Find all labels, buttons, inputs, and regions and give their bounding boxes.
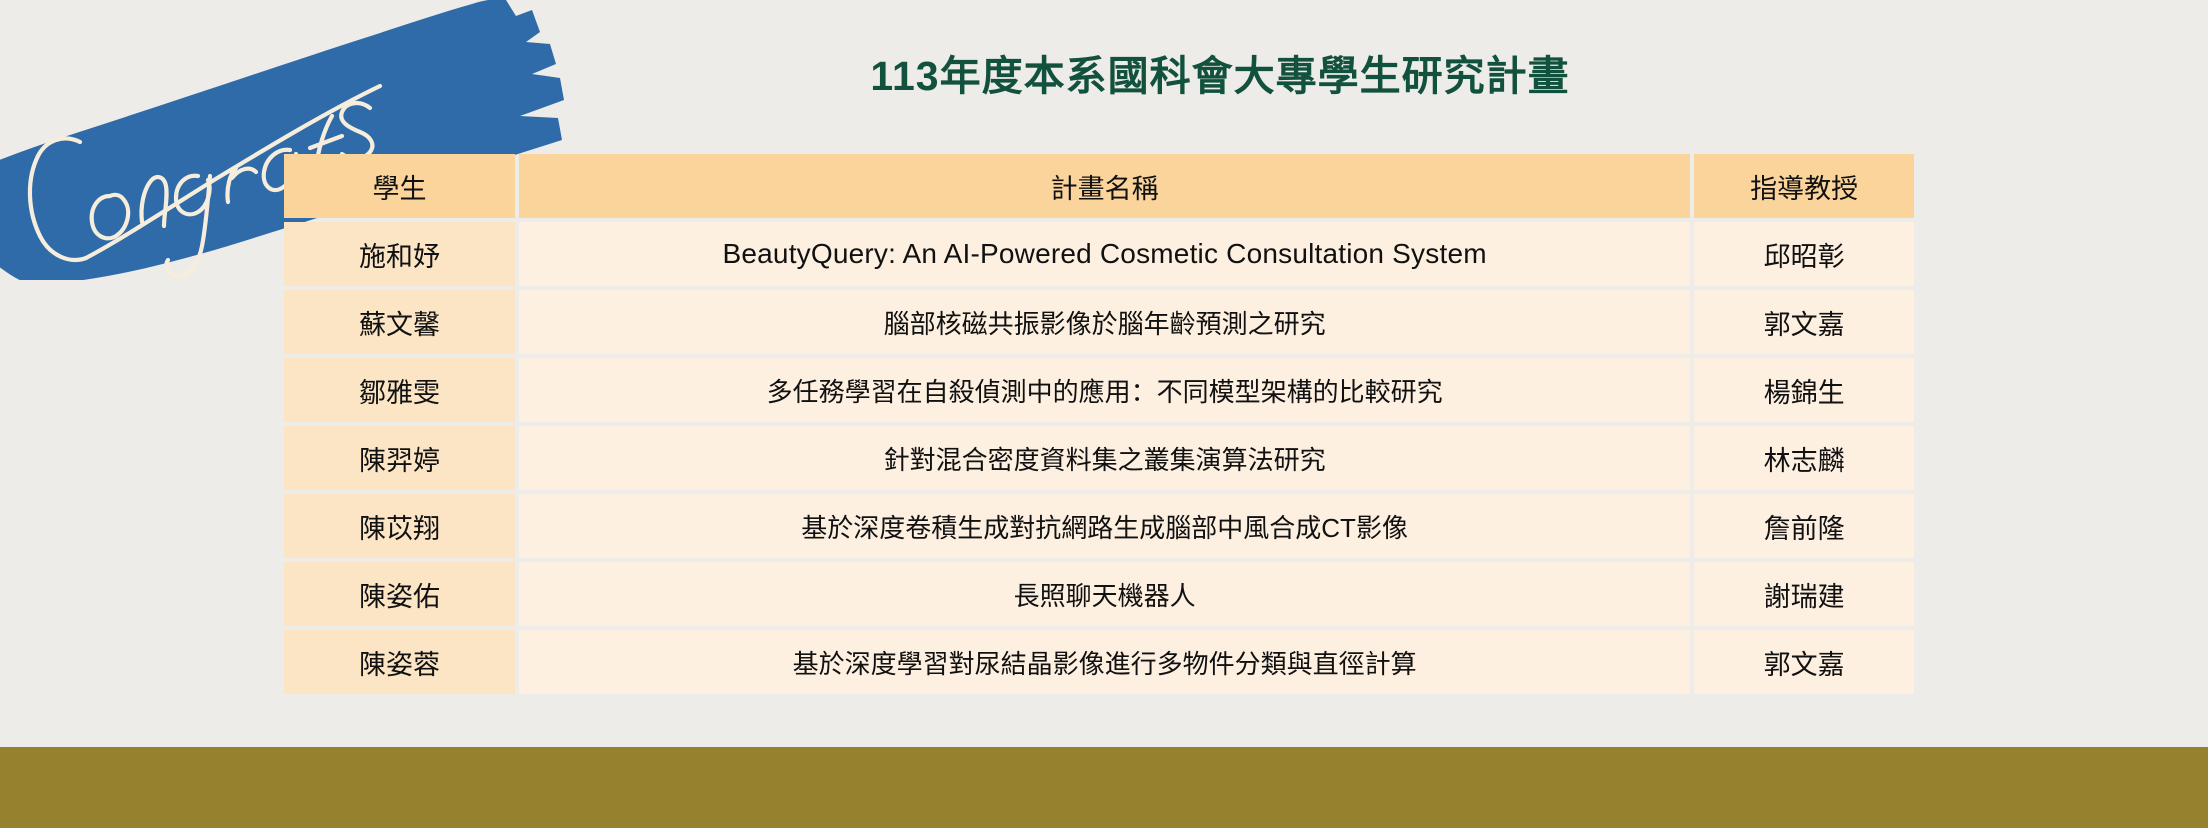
cell-advisor: 郭文嘉 (1694, 290, 1914, 354)
table-row: 施和妤 BeautyQuery: An AI-Powered Cosmetic … (284, 222, 1914, 286)
table-row: 陳姿佑 長照聊天機器人 謝瑞建 (284, 562, 1914, 626)
column-header-advisor: 指導教授 (1694, 154, 1914, 218)
cell-student: 陳苡翔 (284, 494, 515, 558)
cell-project: BeautyQuery: An AI-Powered Cosmetic Cons… (519, 222, 1690, 286)
cell-advisor: 邱昭彰 (1694, 222, 1914, 286)
column-header-student: 學生 (284, 154, 515, 218)
cell-project: 針對混合密度資料集之叢集演算法研究 (519, 426, 1690, 490)
table-header: 學生 計畫名稱 指導教授 (284, 154, 1914, 218)
table-row: 陳羿婷 針對混合密度資料集之叢集演算法研究 林志麟 (284, 426, 1914, 490)
cell-project: 基於深度卷積生成對抗網路生成腦部中風合成CT影像 (519, 494, 1690, 558)
cell-project: 基於深度學習對尿結晶影像進行多物件分類與直徑計算 (519, 630, 1690, 694)
cell-project: 腦部核磁共振影像於腦年齡預測之研究 (519, 290, 1690, 354)
table-row: 蘇文馨 腦部核磁共振影像於腦年齡預測之研究 郭文嘉 (284, 290, 1914, 354)
header-row: 學生 計畫名稱 指導教授 (284, 154, 1914, 218)
table-row: 陳姿蓉 基於深度學習對尿結晶影像進行多物件分類與直徑計算 郭文嘉 (284, 630, 1914, 694)
cell-student: 陳姿佑 (284, 562, 515, 626)
cell-student: 鄒雅雯 (284, 358, 515, 422)
cell-project: 長照聊天機器人 (519, 562, 1690, 626)
table-row: 鄒雅雯 多任務學習在自殺偵測中的應用：不同模型架構的比較研究 楊錦生 (284, 358, 1914, 422)
cell-student: 陳姿蓉 (284, 630, 515, 694)
cell-advisor: 謝瑞建 (1694, 562, 1914, 626)
page-title: 113年度本系國科會大專學生研究計畫 (490, 52, 1950, 100)
cell-student: 蘇文馨 (284, 290, 515, 354)
column-header-project: 計畫名稱 (519, 154, 1690, 218)
poster-canvas: 113年度本系國科會大專學生研究計畫 學生 計畫名稱 指導教授 施和妤 Beau… (0, 0, 2208, 828)
cell-advisor: 楊錦生 (1694, 358, 1914, 422)
bottom-accent-bar (0, 747, 2208, 828)
table-body: 施和妤 BeautyQuery: An AI-Powered Cosmetic … (284, 222, 1914, 694)
cell-student: 施和妤 (284, 222, 515, 286)
cell-advisor: 郭文嘉 (1694, 630, 1914, 694)
cell-student: 陳羿婷 (284, 426, 515, 490)
cell-advisor: 詹前隆 (1694, 494, 1914, 558)
projects-table: 學生 計畫名稱 指導教授 施和妤 BeautyQuery: An AI-Powe… (280, 150, 1918, 698)
table-row: 陳苡翔 基於深度卷積生成對抗網路生成腦部中風合成CT影像 詹前隆 (284, 494, 1914, 558)
cell-project: 多任務學習在自殺偵測中的應用：不同模型架構的比較研究 (519, 358, 1690, 422)
cell-advisor: 林志麟 (1694, 426, 1914, 490)
